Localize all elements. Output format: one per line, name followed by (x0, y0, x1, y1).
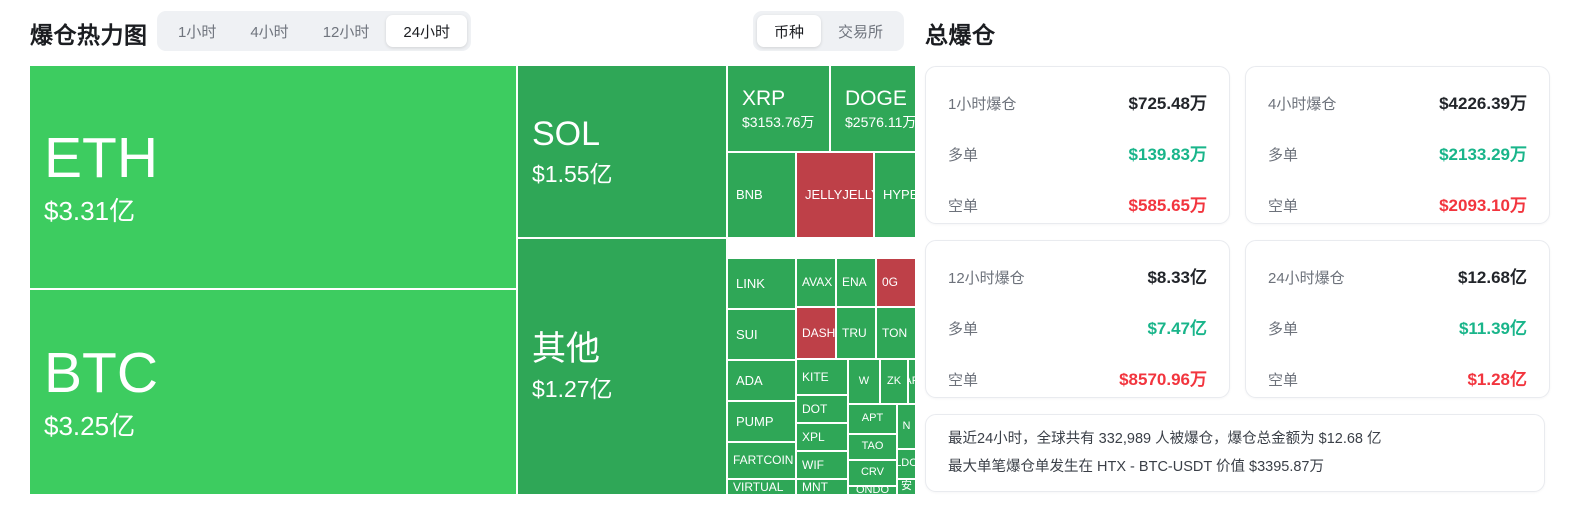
treemap-tile[interactable]: LDO (898, 450, 915, 478)
treemap-tile[interactable]: TRU (837, 308, 875, 358)
tile-symbol: DASH (802, 327, 835, 340)
treemap-tile[interactable]: ZK (881, 360, 907, 403)
stat-total-value: $725.48万 (1129, 89, 1207, 114)
treemap-tile[interactable]: FARTCOIN (728, 443, 795, 478)
stat-row: 空单$1.28亿 (1268, 365, 1527, 390)
treemap-tile[interactable]: MNT (797, 480, 847, 494)
treemap-tile[interactable]: CRV (849, 461, 896, 485)
stat-total-value: $8.33亿 (1147, 263, 1207, 288)
treemap-tile[interactable]: XPL (797, 424, 847, 450)
tile-value: $1.55亿 (532, 162, 712, 186)
tile-symbol: 安 (901, 481, 912, 493)
treemap-tile[interactable]: VIRTUAL (728, 480, 795, 494)
tile-symbol: JELLYJELLY (805, 188, 873, 202)
stat-short-value: $8570.96万 (1119, 365, 1207, 390)
summary-card: 最近24小时，全球共有 332,989 人被爆仓，爆仓总金额为 $12.68 亿… (925, 414, 1545, 492)
treemap-tile[interactable]: ONDO (849, 487, 896, 494)
tile-symbol: DOT (802, 403, 827, 416)
tile-symbol: APT (862, 413, 883, 425)
liquidation-stat-card: 12小时爆仓$8.33亿多单$7.47亿空单$8570.96万 (925, 240, 1230, 398)
tile-symbol: SUI (736, 328, 758, 342)
page-title: 爆仓热力图 (30, 16, 148, 50)
treemap-tile[interactable]: HYPE (875, 153, 915, 237)
treemap-tile[interactable]: DOGE$2576.11万 (831, 66, 915, 151)
stat-short-label: 空单 (1268, 369, 1298, 390)
tile-symbol: N (903, 421, 911, 433)
tile-value: $1.27亿 (532, 377, 712, 401)
treemap-tile[interactable]: XRP$3153.76万 (728, 66, 829, 151)
tile-symbol: TON (882, 327, 907, 340)
stat-long-value: $7.47亿 (1147, 314, 1207, 339)
tile-symbol: XPL (802, 431, 825, 444)
stat-period-label: 12小时爆仓 (948, 267, 1025, 288)
stat-long-value: $2133.29万 (1439, 140, 1527, 165)
stat-short-label: 空单 (1268, 195, 1298, 216)
timeframe-tab-group: 1小时4小时12小时24小时 (157, 11, 471, 51)
stat-row: 空单$2093.10万 (1268, 191, 1527, 216)
tile-symbol: HYPE (883, 188, 915, 202)
tile-symbol: CRV (861, 467, 884, 479)
stat-row: 多单$7.47亿 (948, 314, 1207, 339)
liquidation-stat-card: 4小时爆仓$4226.39万多单$2133.29万空单$2093.10万 (1245, 66, 1550, 224)
treemap-tile[interactable]: AVAX (797, 259, 835, 306)
tile-symbol: TRU (842, 327, 867, 340)
summary-line1: 最近24小时，全球共有 332,989 人被爆仓，爆仓总金额为 $12.68 亿 (948, 425, 1522, 453)
treemap-tile[interactable]: 安 (898, 480, 915, 494)
tile-symbol: TAO (862, 441, 884, 453)
tile-value: $3153.76万 (742, 115, 815, 130)
treemap-tile[interactable]: BNB (728, 153, 795, 237)
stat-long-value: $139.83万 (1129, 140, 1207, 165)
stat-row: 多单$2133.29万 (1268, 140, 1527, 165)
stat-long-label: 多单 (948, 144, 978, 165)
stat-row: 4小时爆仓$4226.39万 (1268, 89, 1527, 114)
timeframe-tab-3[interactable]: 24小时 (386, 15, 467, 47)
tile-symbol: AR (909, 376, 915, 388)
treemap-tile[interactable]: 其他$1.27亿 (518, 239, 726, 494)
tile-symbol: BNB (736, 188, 763, 202)
treemap-tile[interactable]: ADA (728, 361, 795, 400)
treemap-tile[interactable]: SOL$1.55亿 (518, 66, 726, 237)
tile-symbol: ENA (842, 276, 867, 289)
tile-symbol: PUMP (736, 415, 774, 429)
stat-total-value: $4226.39万 (1439, 89, 1527, 114)
tile-symbol: WIF (802, 459, 824, 472)
stat-long-label: 多单 (1268, 144, 1298, 165)
tile-value: $3.25亿 (44, 413, 502, 440)
stat-short-label: 空单 (948, 195, 978, 216)
timeframe-tab-0[interactable]: 1小时 (161, 15, 233, 47)
stat-short-value: $585.65万 (1129, 191, 1207, 216)
stat-row: 多单$139.83万 (948, 140, 1207, 165)
treemap-tile[interactable]: ENA (837, 259, 875, 306)
view-mode-tab-1[interactable]: 交易所 (821, 15, 900, 47)
stat-long-label: 多单 (948, 318, 978, 339)
tile-symbol: SOL (532, 117, 712, 153)
stat-total-value: $12.68亿 (1458, 263, 1527, 288)
treemap-tile[interactable]: LINK (728, 259, 795, 308)
tile-symbol: FARTCOIN (733, 454, 793, 467)
tile-symbol: ADA (736, 374, 763, 388)
liquidation-treemap[interactable]: ETH$3.31亿BTC$3.25亿SOL$1.55亿其他$1.27亿XRP$3… (30, 66, 915, 494)
tile-symbol: LINK (736, 277, 765, 291)
treemap-tile[interactable]: KITE (797, 360, 847, 394)
liquidation-dashboard: 爆仓热力图 1小时4小时12小时24小时 币种交易所 总爆仓 ETH$3.31亿… (0, 0, 1575, 510)
treemap-tile[interactable]: DOT (797, 396, 847, 422)
tile-symbol: BTC (44, 344, 502, 404)
stat-row: 24小时爆仓$12.68亿 (1268, 263, 1527, 288)
tile-symbol: 其他 (532, 332, 712, 368)
stat-row: 1小时爆仓$725.48万 (948, 89, 1207, 114)
stat-long-label: 多单 (1268, 318, 1298, 339)
tile-symbol: XRP (742, 88, 815, 110)
tile-symbol: ONDO (856, 487, 889, 494)
treemap-tile[interactable]: WIF (797, 452, 847, 478)
treemap-tile[interactable]: BTC$3.25亿 (30, 290, 516, 494)
stat-row: 12小时爆仓$8.33亿 (948, 263, 1207, 288)
liquidation-stat-card: 1小时爆仓$725.48万多单$139.83万空单$585.65万 (925, 66, 1230, 224)
treemap-tile[interactable]: JELLYJELLY (797, 153, 873, 237)
stat-row: 空单$585.65万 (948, 191, 1207, 216)
stat-short-value: $2093.10万 (1439, 191, 1527, 216)
tile-symbol: 0G (882, 276, 898, 289)
stat-long-value: $11.39亿 (1459, 314, 1527, 339)
tile-value: $2576.11万 (845, 115, 901, 130)
tile-symbol: DOGE (845, 88, 901, 110)
stat-short-label: 空单 (948, 369, 978, 390)
stat-row: 空单$8570.96万 (948, 365, 1207, 390)
stat-period-label: 4小时爆仓 (1268, 93, 1336, 114)
tile-symbol: MNT (802, 481, 828, 494)
tile-symbol: ZK (887, 376, 901, 388)
timeframe-tab-2[interactable]: 12小时 (306, 15, 387, 47)
stat-period-label: 1小时爆仓 (948, 93, 1016, 114)
summary-line2: 最大单笔爆仓单发生在 HTX - BTC-USDT 价值 $3395.87万 (948, 453, 1522, 481)
treemap-tile[interactable]: AR (909, 360, 915, 403)
tile-value: $3.31亿 (44, 198, 502, 225)
stat-short-value: $1.28亿 (1467, 365, 1527, 390)
stat-period-label: 24小时爆仓 (1268, 267, 1345, 288)
liquidation-stat-card: 24小时爆仓$12.68亿多单$11.39亿空单$1.28亿 (1245, 240, 1550, 398)
tile-symbol: W (859, 376, 869, 388)
total-liquidation-title: 总爆仓 (925, 16, 996, 50)
tile-symbol: ETH (44, 129, 502, 189)
view-mode-tab-group: 币种交易所 (753, 11, 904, 51)
dashboard-header: 爆仓热力图 1小时4小时12小时24小时 币种交易所 总爆仓 (0, 0, 1575, 62)
tile-symbol: VIRTUAL (733, 481, 783, 494)
treemap-tile[interactable]: PUMP (728, 402, 795, 441)
tile-symbol: AVAX (802, 276, 832, 289)
tile-symbol: LDO (898, 458, 915, 470)
treemap-tile[interactable]: SUI (728, 310, 795, 359)
treemap-tile[interactable]: W (849, 360, 879, 403)
treemap-tile[interactable]: DASH (797, 308, 835, 358)
stat-row: 多单$11.39亿 (1268, 314, 1527, 339)
timeframe-tab-1[interactable]: 4小时 (233, 15, 305, 47)
treemap-tile[interactable]: APT (849, 405, 896, 433)
view-mode-tab-0[interactable]: 币种 (757, 15, 821, 47)
treemap-tile[interactable]: TAO (849, 435, 896, 459)
treemap-tile[interactable]: N (898, 405, 915, 448)
treemap-tile[interactable]: TON (877, 308, 915, 358)
treemap-tile[interactable]: ETH$3.31亿 (30, 66, 516, 288)
tile-symbol: KITE (802, 371, 829, 384)
treemap-tile[interactable]: 0G (877, 259, 915, 306)
